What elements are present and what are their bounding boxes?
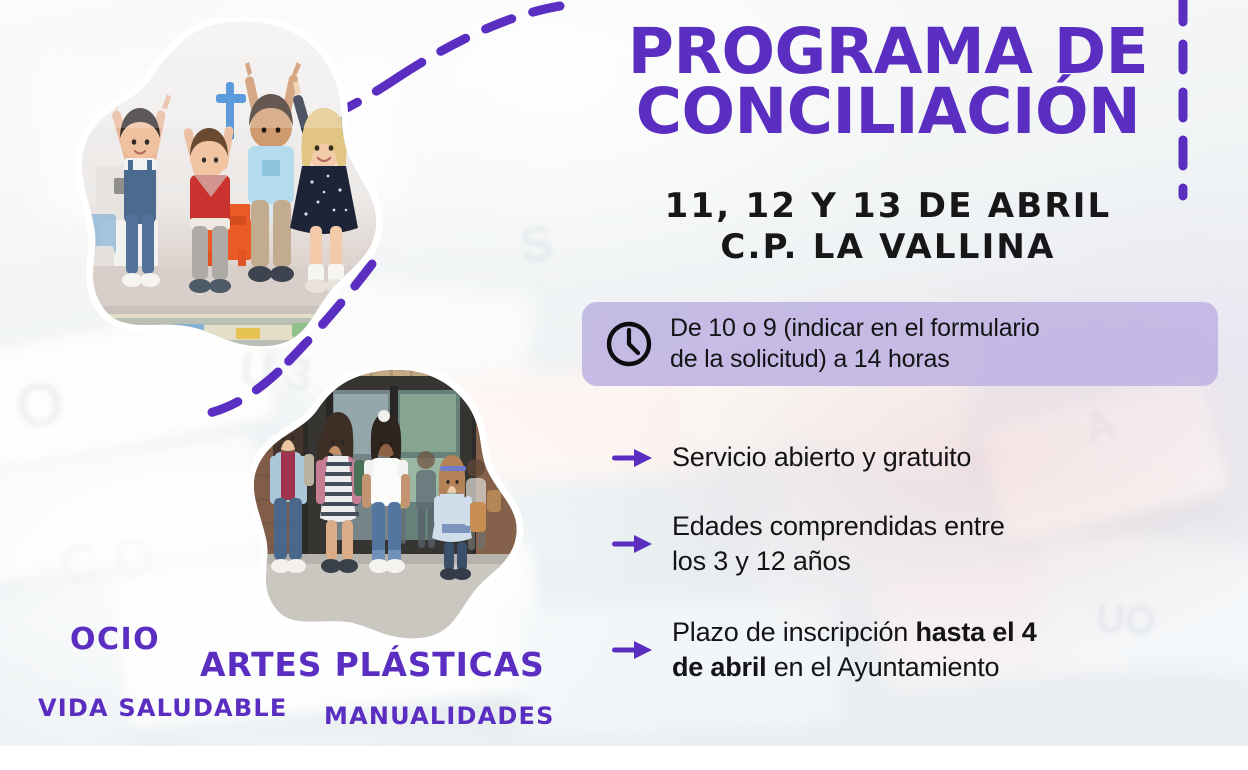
tag-ocio: OCIO [70, 622, 160, 657]
arrow-right-icon [612, 532, 654, 556]
clock-icon [604, 319, 654, 369]
arrow-right-icon [612, 638, 654, 662]
bullet-list: Servicio abierto y gratuito Edades compr… [612, 440, 1212, 705]
bullet-text-edades: Edades comprendidas entrelos 3 y 12 años [672, 509, 1005, 579]
schedule-text: De 10 o 9 (indicar en el formulario de l… [670, 313, 1040, 375]
tag-manualidades: MANUALIDADES [324, 702, 555, 730]
bullet-item-edades: Edades comprendidas entrelos 3 y 12 años [612, 509, 1212, 579]
subtitle-venue: C.P. LA VALLINA [578, 227, 1198, 268]
schedule-line-1: De 10 o 9 (indicar en el formulario [670, 313, 1040, 344]
schedule-box: De 10 o 9 (indicar en el formulario de l… [582, 302, 1218, 386]
poster-subtitle: 11, 12 Y 13 DE ABRIL C.P. LA VALLINA [578, 186, 1198, 269]
photo-children-playing-indoors [78, 18, 388, 348]
schedule-line-2: de la solicitud) a 14 horas [670, 344, 1040, 375]
poster-canvas: O C O U 3 S L A UO [0, 0, 1248, 770]
tag-artes-plasticas: ARTES PLÁSTICAS [200, 645, 545, 684]
subtitle-dates: 11, 12 Y 13 DE ABRIL [578, 186, 1198, 227]
poster-title: PROGRAMA DE CONCILIACIÓN [578, 22, 1198, 143]
arrow-right-icon [612, 446, 654, 470]
bottom-white-band [0, 746, 1248, 770]
photo-schoolgirls-outside-school [244, 368, 524, 640]
tag-vida-saludable: VIDA SALUDABLE [38, 694, 287, 722]
bullet-item-servicio: Servicio abierto y gratuito [612, 440, 1212, 475]
bullet-text-plazo: Plazo de inscripción hasta el 4de abril … [672, 615, 1037, 685]
bullet-item-plazo: Plazo de inscripción hasta el 4de abril … [612, 615, 1212, 685]
bullet-text-servicio: Servicio abierto y gratuito [672, 440, 971, 475]
title-line-2: CONCILIACIÓN [578, 82, 1198, 142]
